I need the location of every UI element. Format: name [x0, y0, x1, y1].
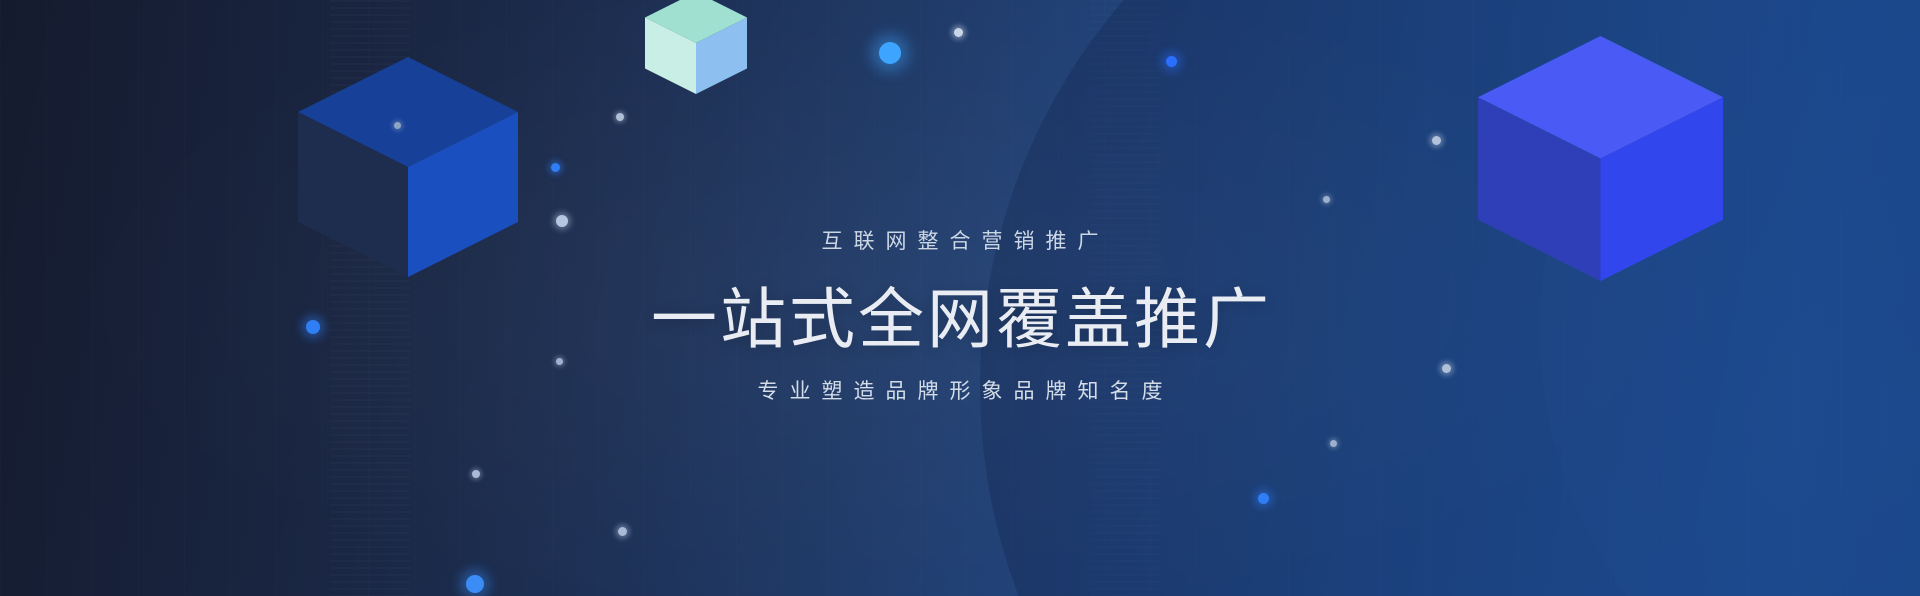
dot-blue-bottom2: [466, 575, 484, 593]
dot-pale-4: [1323, 196, 1330, 203]
banner-headline: 一站式全网覆盖推广: [0, 281, 1920, 359]
dot-pale-9: [1330, 440, 1337, 447]
dot-pale-1: [616, 113, 624, 121]
banner-tagline: 专业塑造品牌形象品牌知名度: [0, 381, 1920, 402]
dot-pale-8: [618, 527, 627, 536]
dot-pale-5: [556, 358, 563, 365]
dot-pale-2: [556, 215, 568, 227]
promo-banner: 互联网整合营销推广 一站式全网覆盖推广 专业塑造品牌形象品牌知名度: [0, 0, 1920, 596]
dot-pale-3: [1432, 136, 1441, 145]
dot-blue-bottom: [1258, 493, 1269, 504]
cube-top-mint-icon: [645, 0, 747, 94]
dot-pale-6: [472, 470, 480, 478]
dot-white-small: [954, 28, 963, 37]
dot-blue-bright: [1166, 56, 1177, 67]
dot-pale-7: [1442, 364, 1451, 373]
banner-eyebrow: 互联网整合营销推广: [0, 231, 1920, 252]
dot-cyan-large: [879, 42, 901, 64]
dot-blue-mid: [551, 163, 560, 172]
